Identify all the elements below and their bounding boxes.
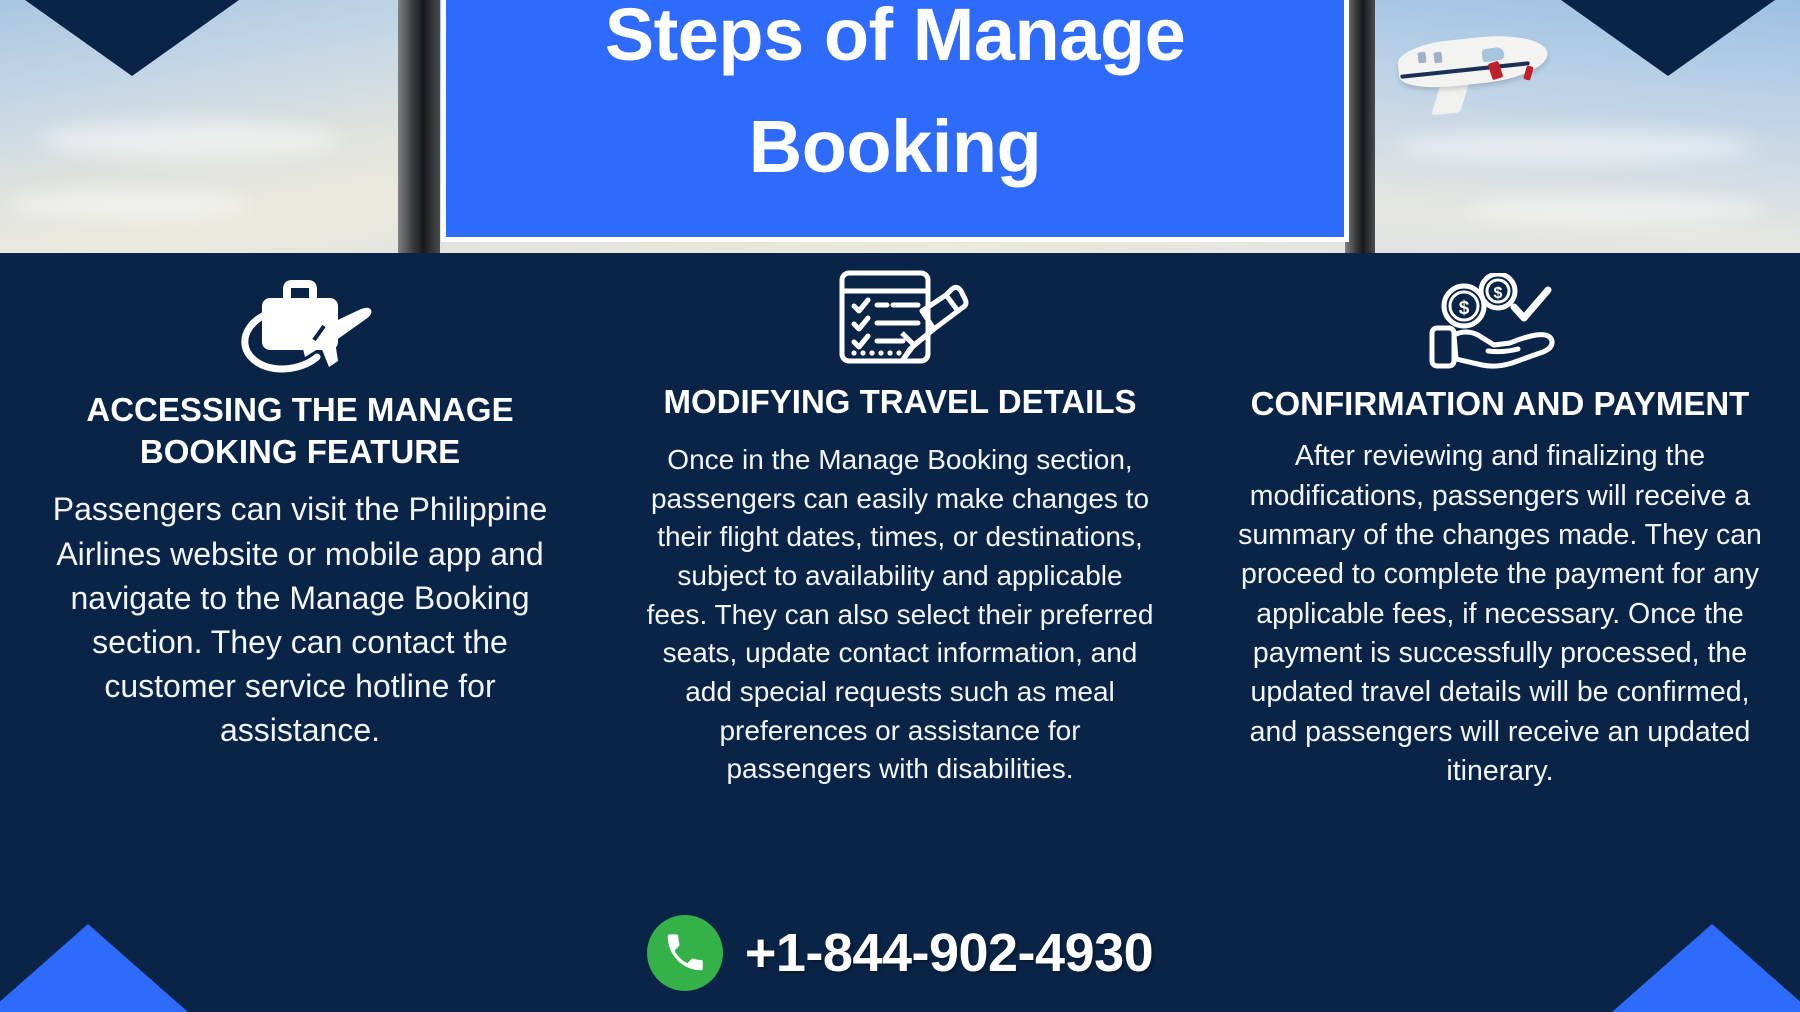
phone-number[interactable]: +1-844-902-4930: [745, 922, 1153, 984]
infographic-poster: Steps of Manage Booking: [0, 0, 1800, 1012]
step-heading: CONFIRMATION AND PAYMENT: [1251, 383, 1750, 425]
step-heading: MODIFYING TRAVEL DETAILS: [663, 381, 1136, 423]
contact-strip: +1-844-902-4930: [0, 915, 1800, 991]
step-body: Once in the Manage Booking section, pass…: [645, 441, 1155, 789]
title-banner: Steps of Manage Booking: [441, 0, 1349, 242]
airplane-window: [1417, 52, 1426, 64]
window-frame-right: [1345, 0, 1375, 253]
steps-container: ACCESSING THE MANAGE BOOKING FEATURE Pas…: [0, 253, 1800, 953]
step-column-modifying: MODIFYING TRAVEL DETAILS Once in the Man…: [600, 253, 1200, 953]
corner-triangle-top-right: [1561, 0, 1775, 76]
svg-text:$: $: [1459, 298, 1470, 319]
page-title: Steps of Manage Booking: [446, 0, 1344, 203]
window-frame-left: [398, 0, 440, 253]
step-column-accessing: ACCESSING THE MANAGE BOOKING FEATURE Pas…: [0, 253, 600, 953]
phone-icon[interactable]: [647, 915, 723, 991]
corner-triangle-top-left: [25, 0, 239, 76]
hand-coins-check-icon: $ $: [1426, 269, 1574, 377]
step-body: Passengers can visit the Philippine Airl…: [28, 487, 572, 752]
step-column-confirmation: $ $ CONFIRMATION AND PAYMENT After revie…: [1200, 253, 1800, 953]
airplane-window: [1433, 52, 1442, 64]
checklist-pencil-icon: [830, 267, 970, 375]
step-heading: ACCESSING THE MANAGE BOOKING FEATURE: [28, 389, 572, 473]
svg-text:$: $: [1494, 285, 1503, 302]
briefcase-airplane-icon: [225, 275, 375, 383]
step-body: After reviewing and finalizing the modif…: [1230, 437, 1770, 791]
